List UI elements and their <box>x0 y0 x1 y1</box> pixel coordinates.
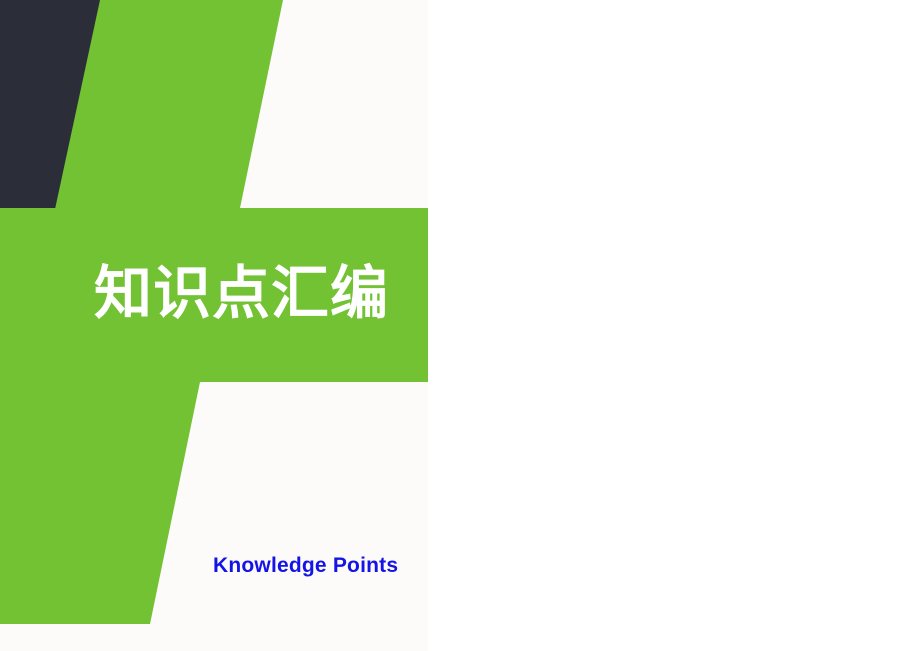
green-middle-band-shape <box>0 208 428 382</box>
cover-slide: 知识点汇编 Knowledge Points <box>0 0 920 651</box>
cover-artwork <box>0 0 920 651</box>
